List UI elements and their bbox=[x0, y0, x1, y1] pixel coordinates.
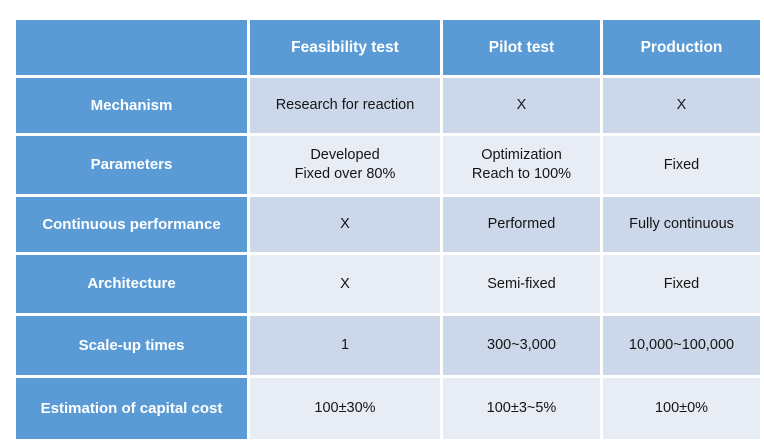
cell-line: Fixed over 80% bbox=[254, 165, 436, 184]
header-pilot-test: Pilot test bbox=[443, 20, 600, 75]
cell-architecture-pilot: Semi-fixed bbox=[443, 255, 600, 313]
row-label-mechanism: Mechanism bbox=[16, 78, 247, 133]
header-feasibility-test: Feasibility test bbox=[250, 20, 440, 75]
cell-line: 100±0% bbox=[607, 399, 756, 418]
process-stage-comparison-table: Feasibility test Pilot test Production M… bbox=[13, 17, 763, 442]
cell-line: Fixed bbox=[607, 275, 756, 294]
cell-line: Fully continuous bbox=[607, 215, 756, 234]
table-row: Estimation of capital cost 100±30% 100±3… bbox=[16, 378, 760, 439]
cell-line: X bbox=[447, 96, 596, 115]
row-label-scale-up-times: Scale-up times bbox=[16, 316, 247, 375]
table-row: Parameters Developed Fixed over 80% Opti… bbox=[16, 136, 760, 194]
row-label-architecture: Architecture bbox=[16, 255, 247, 313]
cell-scaleup-feasibility: 1 bbox=[250, 316, 440, 375]
cell-line: Research for reaction bbox=[254, 96, 436, 115]
cell-line: Performed bbox=[447, 215, 596, 234]
cell-estimation-production: 100±0% bbox=[603, 378, 760, 439]
cell-line: X bbox=[254, 275, 436, 294]
table-header: Feasibility test Pilot test Production bbox=[16, 20, 760, 75]
cell-line: Reach to 100% bbox=[447, 165, 596, 184]
cell-line: 100±3~5% bbox=[447, 399, 596, 418]
cell-scaleup-production: 10,000~100,000 bbox=[603, 316, 760, 375]
header-corner-blank bbox=[16, 20, 247, 75]
cell-estimation-pilot: 100±3~5% bbox=[443, 378, 600, 439]
table-header-row: Feasibility test Pilot test Production bbox=[16, 20, 760, 75]
cell-parameters-pilot: Optimization Reach to 100% bbox=[443, 136, 600, 194]
table-row: Architecture X Semi-fixed Fixed bbox=[16, 255, 760, 313]
cell-scaleup-pilot: 300~3,000 bbox=[443, 316, 600, 375]
cell-line: 1 bbox=[254, 336, 436, 355]
cell-line: Developed bbox=[254, 146, 436, 165]
comparison-table-container: Feasibility test Pilot test Production M… bbox=[13, 17, 751, 421]
cell-architecture-feasibility: X bbox=[250, 255, 440, 313]
cell-mechanism-feasibility: Research for reaction bbox=[250, 78, 440, 133]
cell-line: Semi-fixed bbox=[447, 275, 596, 294]
table-row: Scale-up times 1 300~3,000 10,000~100,00… bbox=[16, 316, 760, 375]
table-body: Mechanism Research for reaction X X Para… bbox=[16, 78, 760, 439]
cell-continuous-pilot: Performed bbox=[443, 197, 600, 252]
header-production: Production bbox=[603, 20, 760, 75]
table-row: Mechanism Research for reaction X X bbox=[16, 78, 760, 133]
cell-architecture-production: Fixed bbox=[603, 255, 760, 313]
cell-line: 10,000~100,000 bbox=[607, 336, 756, 355]
row-label-estimation-of-capital-cost: Estimation of capital cost bbox=[16, 378, 247, 439]
cell-mechanism-production: X bbox=[603, 78, 760, 133]
cell-parameters-production: Fixed bbox=[603, 136, 760, 194]
cell-line: Optimization bbox=[447, 146, 596, 165]
cell-parameters-feasibility: Developed Fixed over 80% bbox=[250, 136, 440, 194]
row-label-continuous-performance: Continuous performance bbox=[16, 197, 247, 252]
cell-mechanism-pilot: X bbox=[443, 78, 600, 133]
cell-line: X bbox=[607, 96, 756, 115]
cell-continuous-production: Fully continuous bbox=[603, 197, 760, 252]
cell-line: 300~3,000 bbox=[447, 336, 596, 355]
cell-line: 100±30% bbox=[254, 399, 436, 418]
cell-continuous-feasibility: X bbox=[250, 197, 440, 252]
cell-estimation-feasibility: 100±30% bbox=[250, 378, 440, 439]
table-row: Continuous performance X Performed Fully… bbox=[16, 197, 760, 252]
cell-line: Fixed bbox=[607, 156, 756, 175]
row-label-parameters: Parameters bbox=[16, 136, 247, 194]
cell-line: X bbox=[254, 215, 436, 234]
